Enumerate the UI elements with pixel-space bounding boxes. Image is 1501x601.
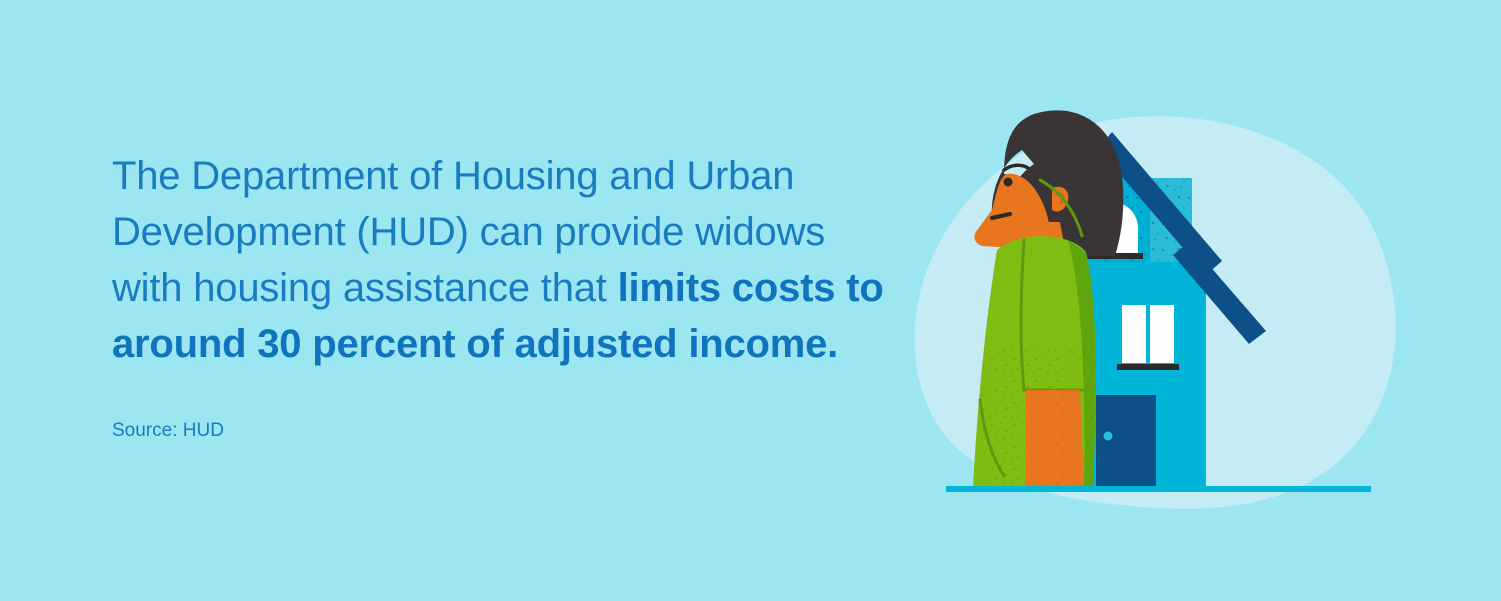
source-attribution: Source: HUD <box>112 418 224 444</box>
person-arm <box>1020 385 1090 490</box>
ground-line <box>946 486 1371 492</box>
house-door[interactable] <box>1096 395 1156 490</box>
statement-text: The Department of Housing and Urban Deve… <box>112 148 902 372</box>
infographic-canvas: The Department of Housing and Urban Deve… <box>0 0 1501 601</box>
door-knob[interactable] <box>1104 432 1113 441</box>
person-eye <box>1004 178 1013 187</box>
illustration-woman-and-house <box>900 90 1410 510</box>
text-panel: The Department of Housing and Urban Deve… <box>112 148 902 372</box>
